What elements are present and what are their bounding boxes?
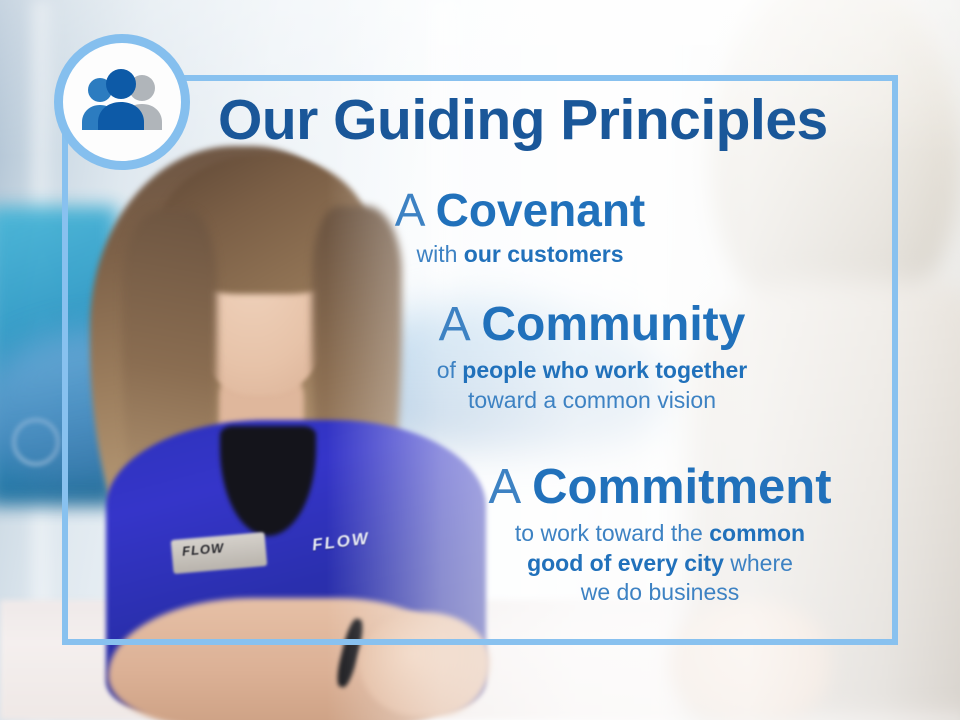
principle-subtitle-line: good of every city where (440, 549, 880, 578)
principle-block-commitment: A Commitment to work toward the commongo… (440, 462, 880, 608)
principle-block-community: A Community of people who work togethert… (382, 300, 802, 415)
principle-subtitle: of people who work togethertoward a comm… (382, 356, 802, 415)
principle-keyword: Commitment (532, 460, 831, 514)
plain-text: with (416, 241, 463, 267)
principle-subtitle-line: to work toward the common (440, 519, 880, 548)
principle-article: A (395, 184, 436, 236)
emphasis-text: common (709, 520, 805, 546)
page-title: Our Guiding Principles (218, 92, 828, 149)
principle-title: A Commitment (440, 462, 880, 513)
principle-title: A Covenant (330, 186, 710, 234)
principle-subtitle-line: with our customers (330, 240, 710, 269)
plain-text: we do business (581, 579, 740, 605)
principle-subtitle-line: toward a common vision (382, 386, 802, 415)
plain-text: where (724, 550, 793, 576)
principle-subtitle-line: we do business (440, 578, 880, 607)
emphasis-text: good of every city (527, 550, 724, 576)
principle-article: A (439, 298, 482, 351)
principle-article: A (488, 460, 532, 514)
principle-keyword: Covenant (436, 184, 646, 236)
principle-subtitle: to work toward the commongood of every c… (440, 519, 880, 607)
principle-subtitle: with our customers (330, 240, 710, 269)
principle-subtitle-line: of people who work together (382, 356, 802, 385)
plain-text: of (437, 357, 463, 383)
principle-title: A Community (382, 300, 802, 350)
plain-text: toward a common vision (468, 387, 716, 413)
plain-text: to work toward the (515, 520, 709, 546)
emphasis-text: our customers (464, 241, 624, 267)
principle-keyword: Community (481, 298, 745, 351)
poster-canvas: FLOW FLOW Our Guiding Principles A Coven… (0, 0, 960, 720)
emphasis-text: people who work together (462, 357, 747, 383)
principle-block-covenant: A Covenant with our customers (330, 186, 710, 270)
people-group-icon (54, 34, 190, 170)
